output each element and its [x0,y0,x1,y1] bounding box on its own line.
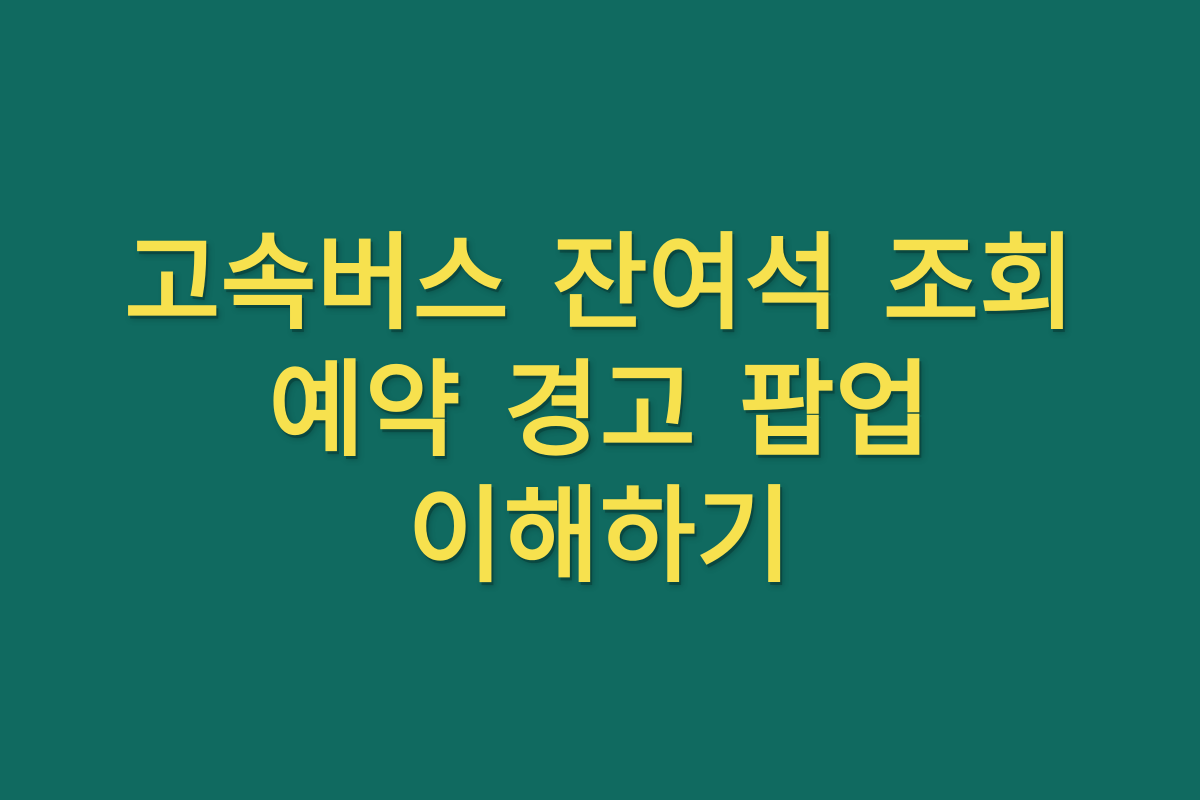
headline-container: 고속버스 잔여석 조회 예약 경고 팝업 이해하기 [80,220,1120,601]
banner-headline: 고속버스 잔여석 조회 예약 경고 팝업 이해하기 [80,220,1120,601]
banner-canvas: 고속버스 잔여석 조회 예약 경고 팝업 이해하기 [0,0,1200,800]
